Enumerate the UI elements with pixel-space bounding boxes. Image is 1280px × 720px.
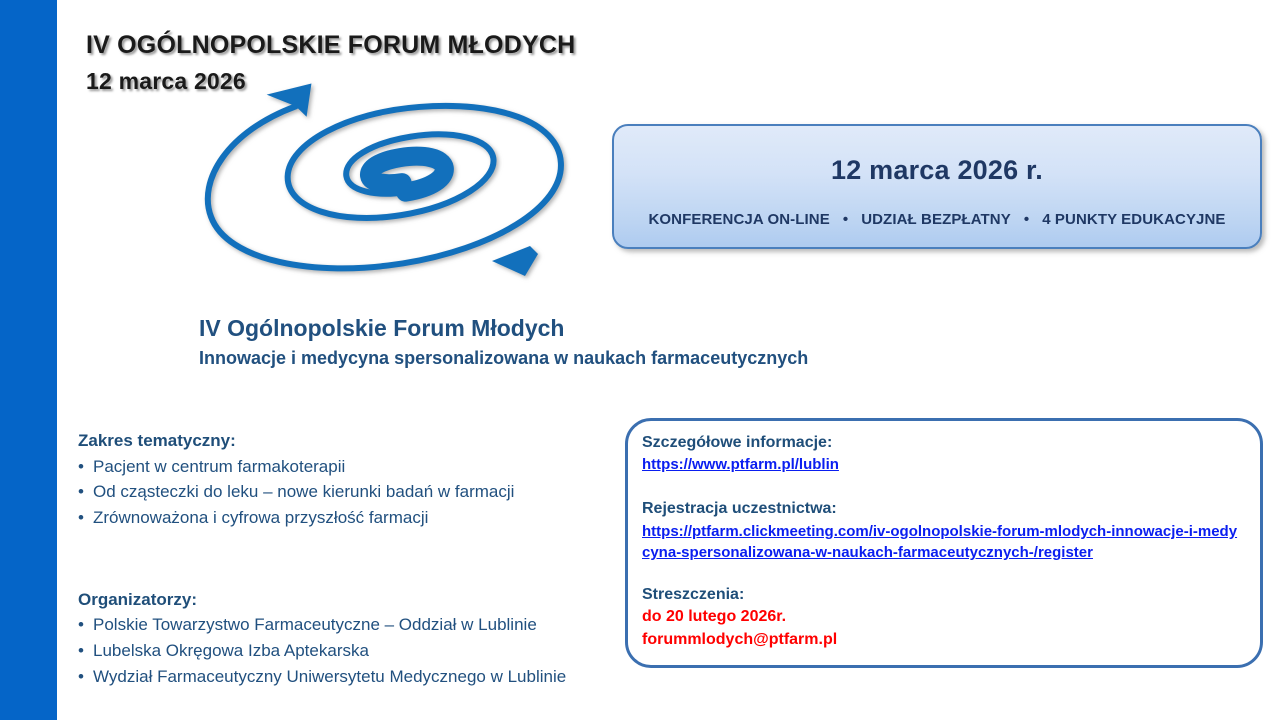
registration-link[interactable]: https://ptfarm.clickmeeting.com/iv-ogoln… (642, 521, 1244, 564)
banner-features: KONFERENCJA ON-LINE • UDZIAŁ BEZPŁATNY •… (648, 211, 1225, 228)
section-spacer (78, 531, 598, 587)
bullet-icon: • (78, 505, 93, 531)
bullet-separator-icon: • (1024, 212, 1029, 227)
topic-label: Zrównoważona i cyfrowa przyszłość farmac… (93, 508, 428, 527)
event-subtitle: Innowacje i medycyna spersonalizowana w … (199, 346, 808, 371)
list-item: •Pacjent w centrum farmakoterapii (78, 454, 598, 480)
event-banner: 12 marca 2026 r. KONFERENCJA ON-LINE • U… (612, 124, 1262, 249)
headline-line-1: IV OGÓLNOPOLSKIE FORUM MŁODYCH (86, 30, 575, 61)
information-box: Szczegółowe informacje: https://www.ptfa… (625, 418, 1263, 668)
bullet-icon: • (78, 454, 93, 480)
banner-date: 12 marca 2026 r. (831, 155, 1043, 186)
list-item: •Zrównoważona i cyfrowa przyszłość farma… (78, 505, 598, 531)
organizers-heading: Organizatorzy: (78, 587, 598, 613)
topics-list: •Pacjent w centrum farmakoterapii •Od cz… (78, 454, 598, 531)
conference-poster: IV OGÓLNOPOLSKIE FORUM MŁODYCH 12 marca … (0, 0, 1280, 720)
banner-feature-points: 4 PUNKTY EDUKACYJNE (1042, 211, 1225, 228)
organizer-label: Wydział Farmaceutyczny Uniwersytetu Medy… (93, 667, 566, 686)
list-item: •Wydział Farmaceutyczny Uniwersytetu Med… (78, 664, 598, 690)
info-spacer (642, 475, 1244, 497)
event-title: IV Ogólnopolskie Forum Młodych (199, 313, 808, 343)
registration-label: Rejestracja uczestnictwa: (642, 497, 1244, 520)
bullet-icon: • (78, 479, 93, 505)
topics-heading: Zakres tematyczny: (78, 428, 598, 454)
organizers-list: •Polskie Towarzystwo Farmaceutyczne – Od… (78, 612, 598, 689)
banner-feature-online: KONFERENCJA ON-LINE (648, 211, 829, 228)
left-text-column: Zakres tematyczny: •Pacjent w centrum fa… (78, 428, 598, 690)
list-item: •Lubelska Okręgowa Izba Aptekarska (78, 638, 598, 664)
organizer-label: Lubelska Okręgowa Izba Aptekarska (93, 641, 369, 660)
bullet-icon: • (78, 612, 93, 638)
details-label: Szczegółowe informacje: (642, 431, 1244, 454)
bullet-icon: • (78, 664, 93, 690)
organizer-label: Polskie Towarzystwo Farmaceutyczne – Odd… (93, 615, 537, 634)
list-item: •Polskie Towarzystwo Farmaceutyczne – Od… (78, 612, 598, 638)
topic-label: Pacjent w centrum farmakoterapii (93, 457, 345, 476)
abstracts-deadline: do 20 lutego 2026r. (642, 606, 1244, 629)
banner-feature-free: UDZIAŁ BEZPŁATNY (861, 211, 1011, 228)
list-item: •Od cząsteczki do leku – nowe kierunki b… (78, 479, 598, 505)
event-title-block: IV Ogólnopolskie Forum Młodych Innowacje… (199, 313, 808, 371)
details-link[interactable]: https://www.ptfarm.pl/lublin (642, 454, 1244, 475)
bullet-icon: • (78, 638, 93, 664)
abstracts-email[interactable]: forummlodych@ptfarm.pl (642, 629, 1244, 652)
spiral-arrow-icon (178, 58, 608, 288)
topic-label: Od cząsteczki do leku – nowe kierunki ba… (93, 482, 514, 501)
left-accent-bar (0, 0, 57, 720)
abstracts-label: Streszczenia: (642, 583, 1244, 606)
info-spacer (642, 563, 1244, 583)
bullet-separator-icon: • (843, 212, 848, 227)
